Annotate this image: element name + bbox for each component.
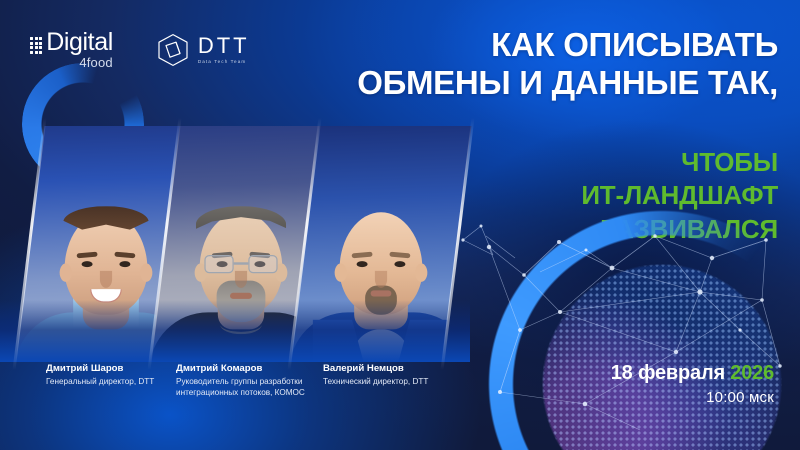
logo-digital4food-name: Digital (46, 30, 113, 55)
event-time: 10:00 мск (611, 389, 774, 406)
speaker-role: Руководитель группы разработки интеграци… (176, 377, 312, 399)
logo-digital4food[interactable]: Digital 4food (30, 30, 113, 69)
logo-digital4food-suffix: 4food (46, 56, 113, 69)
speaker-photo-group (0, 126, 470, 362)
event-date-year: 2026 (730, 362, 774, 384)
subheadline-line-1: ЧТОБЫ (581, 146, 778, 179)
globe-dot-matrix (492, 214, 800, 450)
logo-dtt-tagline: Data Tech Team (198, 60, 250, 65)
speaker-caption-3: Валерий Немцов Технический директор, DTT (323, 363, 453, 388)
event-date-day-month: 18 февраля (611, 362, 725, 384)
event-date: 18 февраля 2026 (611, 362, 774, 384)
headline: КАК ОПИСЫВАТЬ ОБМЕНЫ И ДАННЫЕ ТАК, (357, 26, 778, 102)
globe-color-tint (492, 214, 800, 450)
logo-dtt-name: DTT (198, 35, 250, 57)
photo-fade-overlay (0, 300, 470, 362)
dotted-globe-graphic (492, 214, 800, 450)
speaker-role: Технический директор, DTT (323, 377, 453, 388)
dot-matrix-icon (30, 37, 42, 54)
event-datetime: 18 февраля 2026 10:00 мск (611, 362, 774, 406)
headline-line-1: КАК ОПИСЫВАТЬ (357, 26, 778, 64)
speaker-name: Валерий Немцов (323, 363, 453, 375)
subheadline: ЧТОБЫ ИТ-ЛАНДШАФТ РАЗВИВАЛСЯ (581, 146, 778, 246)
webinar-banner: Digital 4food DTT Data Tech Team КАК ОПИ… (0, 0, 800, 450)
subheadline-line-3: РАЗВИВАЛСЯ (581, 213, 778, 246)
speaker-caption-2: Дмитрий Комаров Руководитель группы разр… (176, 363, 312, 399)
logo-dtt[interactable]: DTT Data Tech Team (157, 33, 250, 67)
speaker-name: Дмитрий Шаров (46, 363, 166, 375)
subheadline-line-2: ИТ-ЛАНДШАФТ (581, 179, 778, 212)
speaker-caption-1: Дмитрий Шаров Генеральный директор, DTT (46, 363, 166, 388)
speaker-name: Дмитрий Комаров (176, 363, 312, 375)
glasses-icon (204, 255, 277, 275)
headline-line-2: ОБМЕНЫ И ДАННЫЕ ТАК, (357, 64, 778, 102)
cube-icon (157, 33, 189, 67)
speaker-role: Генеральный директор, DTT (46, 377, 166, 388)
logo-row: Digital 4food DTT Data Tech Team (30, 30, 250, 69)
